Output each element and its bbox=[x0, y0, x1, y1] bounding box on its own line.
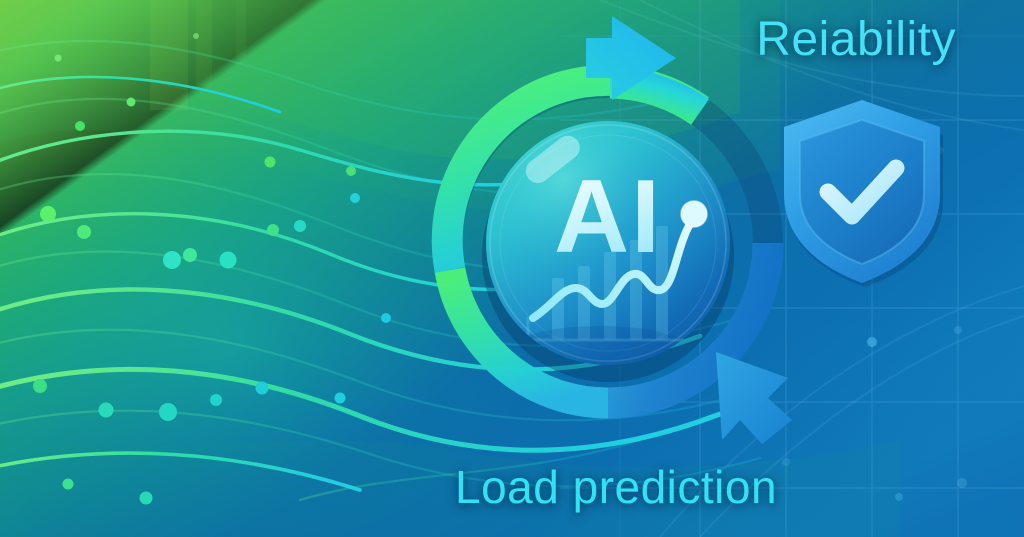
shield-check-icon bbox=[784, 100, 943, 287]
ai-reliability-banner: AI bbox=[0, 0, 1024, 537]
reliability-label: Reiability bbox=[756, 12, 956, 67]
shield-layer bbox=[0, 0, 1024, 537]
load-prediction-label: Load prediction bbox=[455, 460, 777, 514]
